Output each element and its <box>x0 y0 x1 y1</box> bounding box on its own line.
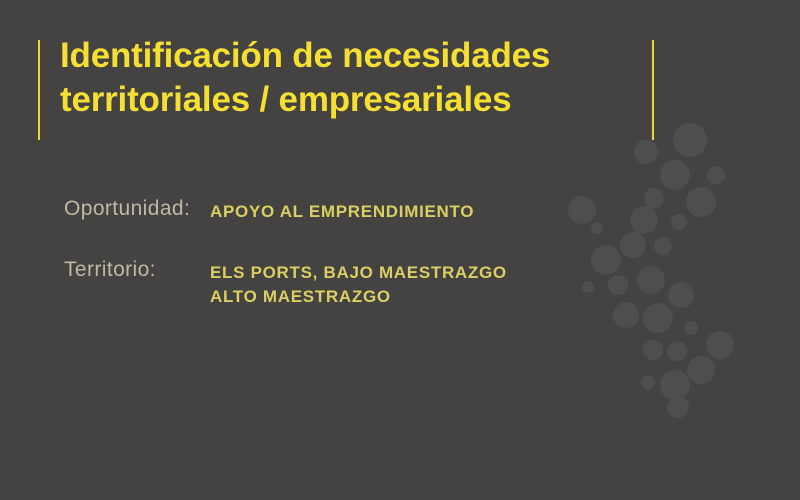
page-title-line-2: territoriales / empresariales <box>60 78 640 122</box>
poster-canvas: Identificación de necesidades territoria… <box>0 0 800 500</box>
decorative-dot <box>637 266 665 294</box>
title-block: Identificación de necesidades territoria… <box>38 36 663 144</box>
decorative-dot <box>568 196 596 224</box>
decorative-dot <box>613 302 639 328</box>
decorative-dot <box>608 275 628 295</box>
detail-label-oportunidad: Oportunidad: <box>64 196 210 222</box>
decorative-dot <box>620 232 646 258</box>
decorative-dot <box>591 245 621 275</box>
detail-row-territorio: Territorio: ELS PORTS, BAJO MAESTRAZGO A… <box>64 257 564 310</box>
detail-label-territorio: Territorio: <box>64 257 210 283</box>
decorative-dot <box>673 123 707 157</box>
decorative-dot <box>644 188 664 208</box>
decorative-dot <box>671 214 687 230</box>
detail-value-oportunidad: APOYO AL EMPRENDIMIENTO <box>210 196 474 225</box>
detail-value-line: APOYO AL EMPRENDIMIENTO <box>210 200 474 225</box>
title-right-rule <box>652 40 654 140</box>
detail-value-line: ELS PORTS, BAJO MAESTRAZGO <box>210 261 507 286</box>
decorative-dot <box>582 281 594 293</box>
decorative-dot <box>654 237 672 255</box>
page-title-line-1: Identificación de necesidades <box>60 34 640 78</box>
decorative-dot <box>668 282 694 308</box>
decorative-dot <box>643 303 673 333</box>
detail-value-line: ALTO MAESTRAZGO <box>210 285 507 310</box>
decorative-dot <box>660 160 690 190</box>
title-left-rule <box>38 40 40 140</box>
decorative-dot <box>591 222 603 234</box>
decorative-dot <box>684 321 698 335</box>
decorative-dot <box>707 166 725 184</box>
detail-value-territorio: ELS PORTS, BAJO MAESTRAZGO ALTO MAESTRAZ… <box>210 257 507 310</box>
page-title: Identificación de necesidades territoria… <box>60 34 640 123</box>
footer: FINANCIA: ORGANIZA: <box>0 352 800 472</box>
decorative-dot <box>630 206 658 234</box>
detail-list: Oportunidad: APOYO AL EMPRENDIMIENTO Ter… <box>64 196 564 310</box>
decorative-dot <box>686 187 716 217</box>
detail-row-oportunidad: Oportunidad: APOYO AL EMPRENDIMIENTO <box>64 196 564 225</box>
